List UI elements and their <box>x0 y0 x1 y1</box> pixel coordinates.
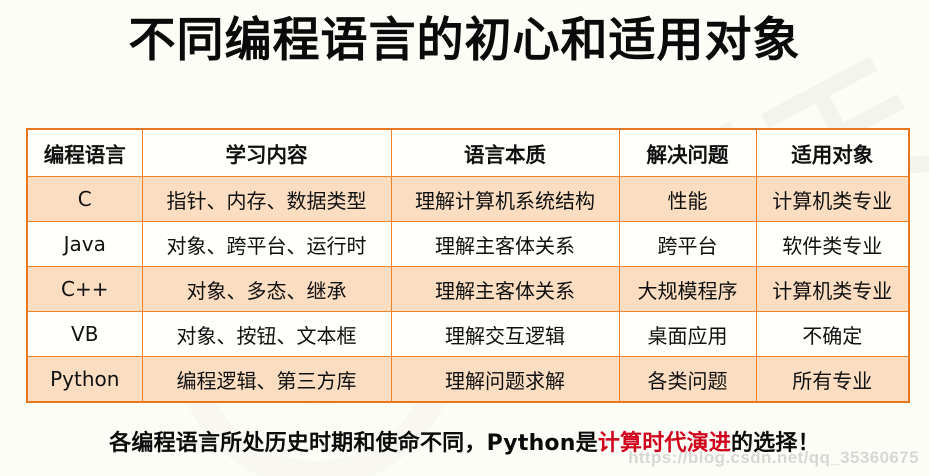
cell-essence: 理解交互逻辑 <box>391 312 619 357</box>
cell-audience: 不确定 <box>756 312 909 357</box>
table-row: Java 对象、跨平台、运行时 理解主客体关系 跨平台 软件类专业 <box>27 222 909 267</box>
cell-audience: 软件类专业 <box>756 222 909 267</box>
cell-problem: 性能 <box>619 177 756 222</box>
table-row: C++ 对象、多态、继承 理解主客体关系 大规模程序 计算机类专业 <box>27 267 909 312</box>
cell-content: 指针、内存、数据类型 <box>142 177 391 222</box>
caption-text-before: 各编程语言所处历史时期和使命不同，Python是 <box>109 431 598 456</box>
cell-audience: 所有专业 <box>756 357 909 403</box>
cell-problem: 跨平台 <box>619 222 756 267</box>
cell-essence: 理解主客体关系 <box>391 222 619 267</box>
cell-problem: 桌面应用 <box>619 312 756 357</box>
cell-language: C <box>27 177 142 222</box>
table-header: 编程语言 学习内容 语言本质 解决问题 适用对象 <box>27 129 909 177</box>
cell-audience: 计算机类专业 <box>756 267 909 312</box>
summary-caption: 各编程语言所处历史时期和使命不同，Python是计算时代演进的选择！ <box>0 425 929 457</box>
cell-essence: 理解主客体关系 <box>391 267 619 312</box>
cell-essence: 理解计算机系统结构 <box>391 177 619 222</box>
column-header-language: 编程语言 <box>27 129 142 177</box>
slide-content: 不同编程语言的初心和适用对象 编程语言 学习内容 语言本质 解决问题 适用对象 … <box>0 0 929 476</box>
column-header-audience: 适用对象 <box>756 129 909 177</box>
table-header-row: 编程语言 学习内容 语言本质 解决问题 适用对象 <box>27 129 909 177</box>
cell-language: VB <box>27 312 142 357</box>
page-title: 不同编程语言的初心和适用对象 <box>0 12 929 71</box>
cell-content: 对象、跨平台、运行时 <box>142 222 391 267</box>
caption-text-after: 的选择！ <box>731 431 820 456</box>
cell-content: 编程逻辑、第三方库 <box>142 357 391 403</box>
caption-text-highlight: 计算时代演进 <box>598 431 731 456</box>
column-header-problem: 解决问题 <box>619 129 756 177</box>
cell-audience: 计算机类专业 <box>756 177 909 222</box>
cell-problem: 各类问题 <box>619 357 756 403</box>
cell-essence: 理解问题求解 <box>391 357 619 403</box>
column-header-essence: 语言本质 <box>391 129 619 177</box>
table-row: VB 对象、按钮、文本框 理解交互逻辑 桌面应用 不确定 <box>27 312 909 357</box>
cell-language: C++ <box>27 267 142 312</box>
comparison-table-container: 编程语言 学习内容 语言本质 解决问题 适用对象 C 指针、内存、数据类型 理解… <box>26 128 908 403</box>
column-header-content: 学习内容 <box>142 129 391 177</box>
cell-content: 对象、按钮、文本框 <box>142 312 391 357</box>
table-row: Python 编程逻辑、第三方库 理解问题求解 各类问题 所有专业 <box>27 357 909 403</box>
cell-problem: 大规模程序 <box>619 267 756 312</box>
cell-language: Java <box>27 222 142 267</box>
table-row: C 指针、内存、数据类型 理解计算机系统结构 性能 计算机类专业 <box>27 177 909 222</box>
programming-language-table: 编程语言 学习内容 语言本质 解决问题 适用对象 C 指针、内存、数据类型 理解… <box>26 128 910 403</box>
cell-language: Python <box>27 357 142 403</box>
cell-content: 对象、多态、继承 <box>142 267 391 312</box>
table-body: C 指针、内存、数据类型 理解计算机系统结构 性能 计算机类专业 Java 对象… <box>27 177 909 403</box>
